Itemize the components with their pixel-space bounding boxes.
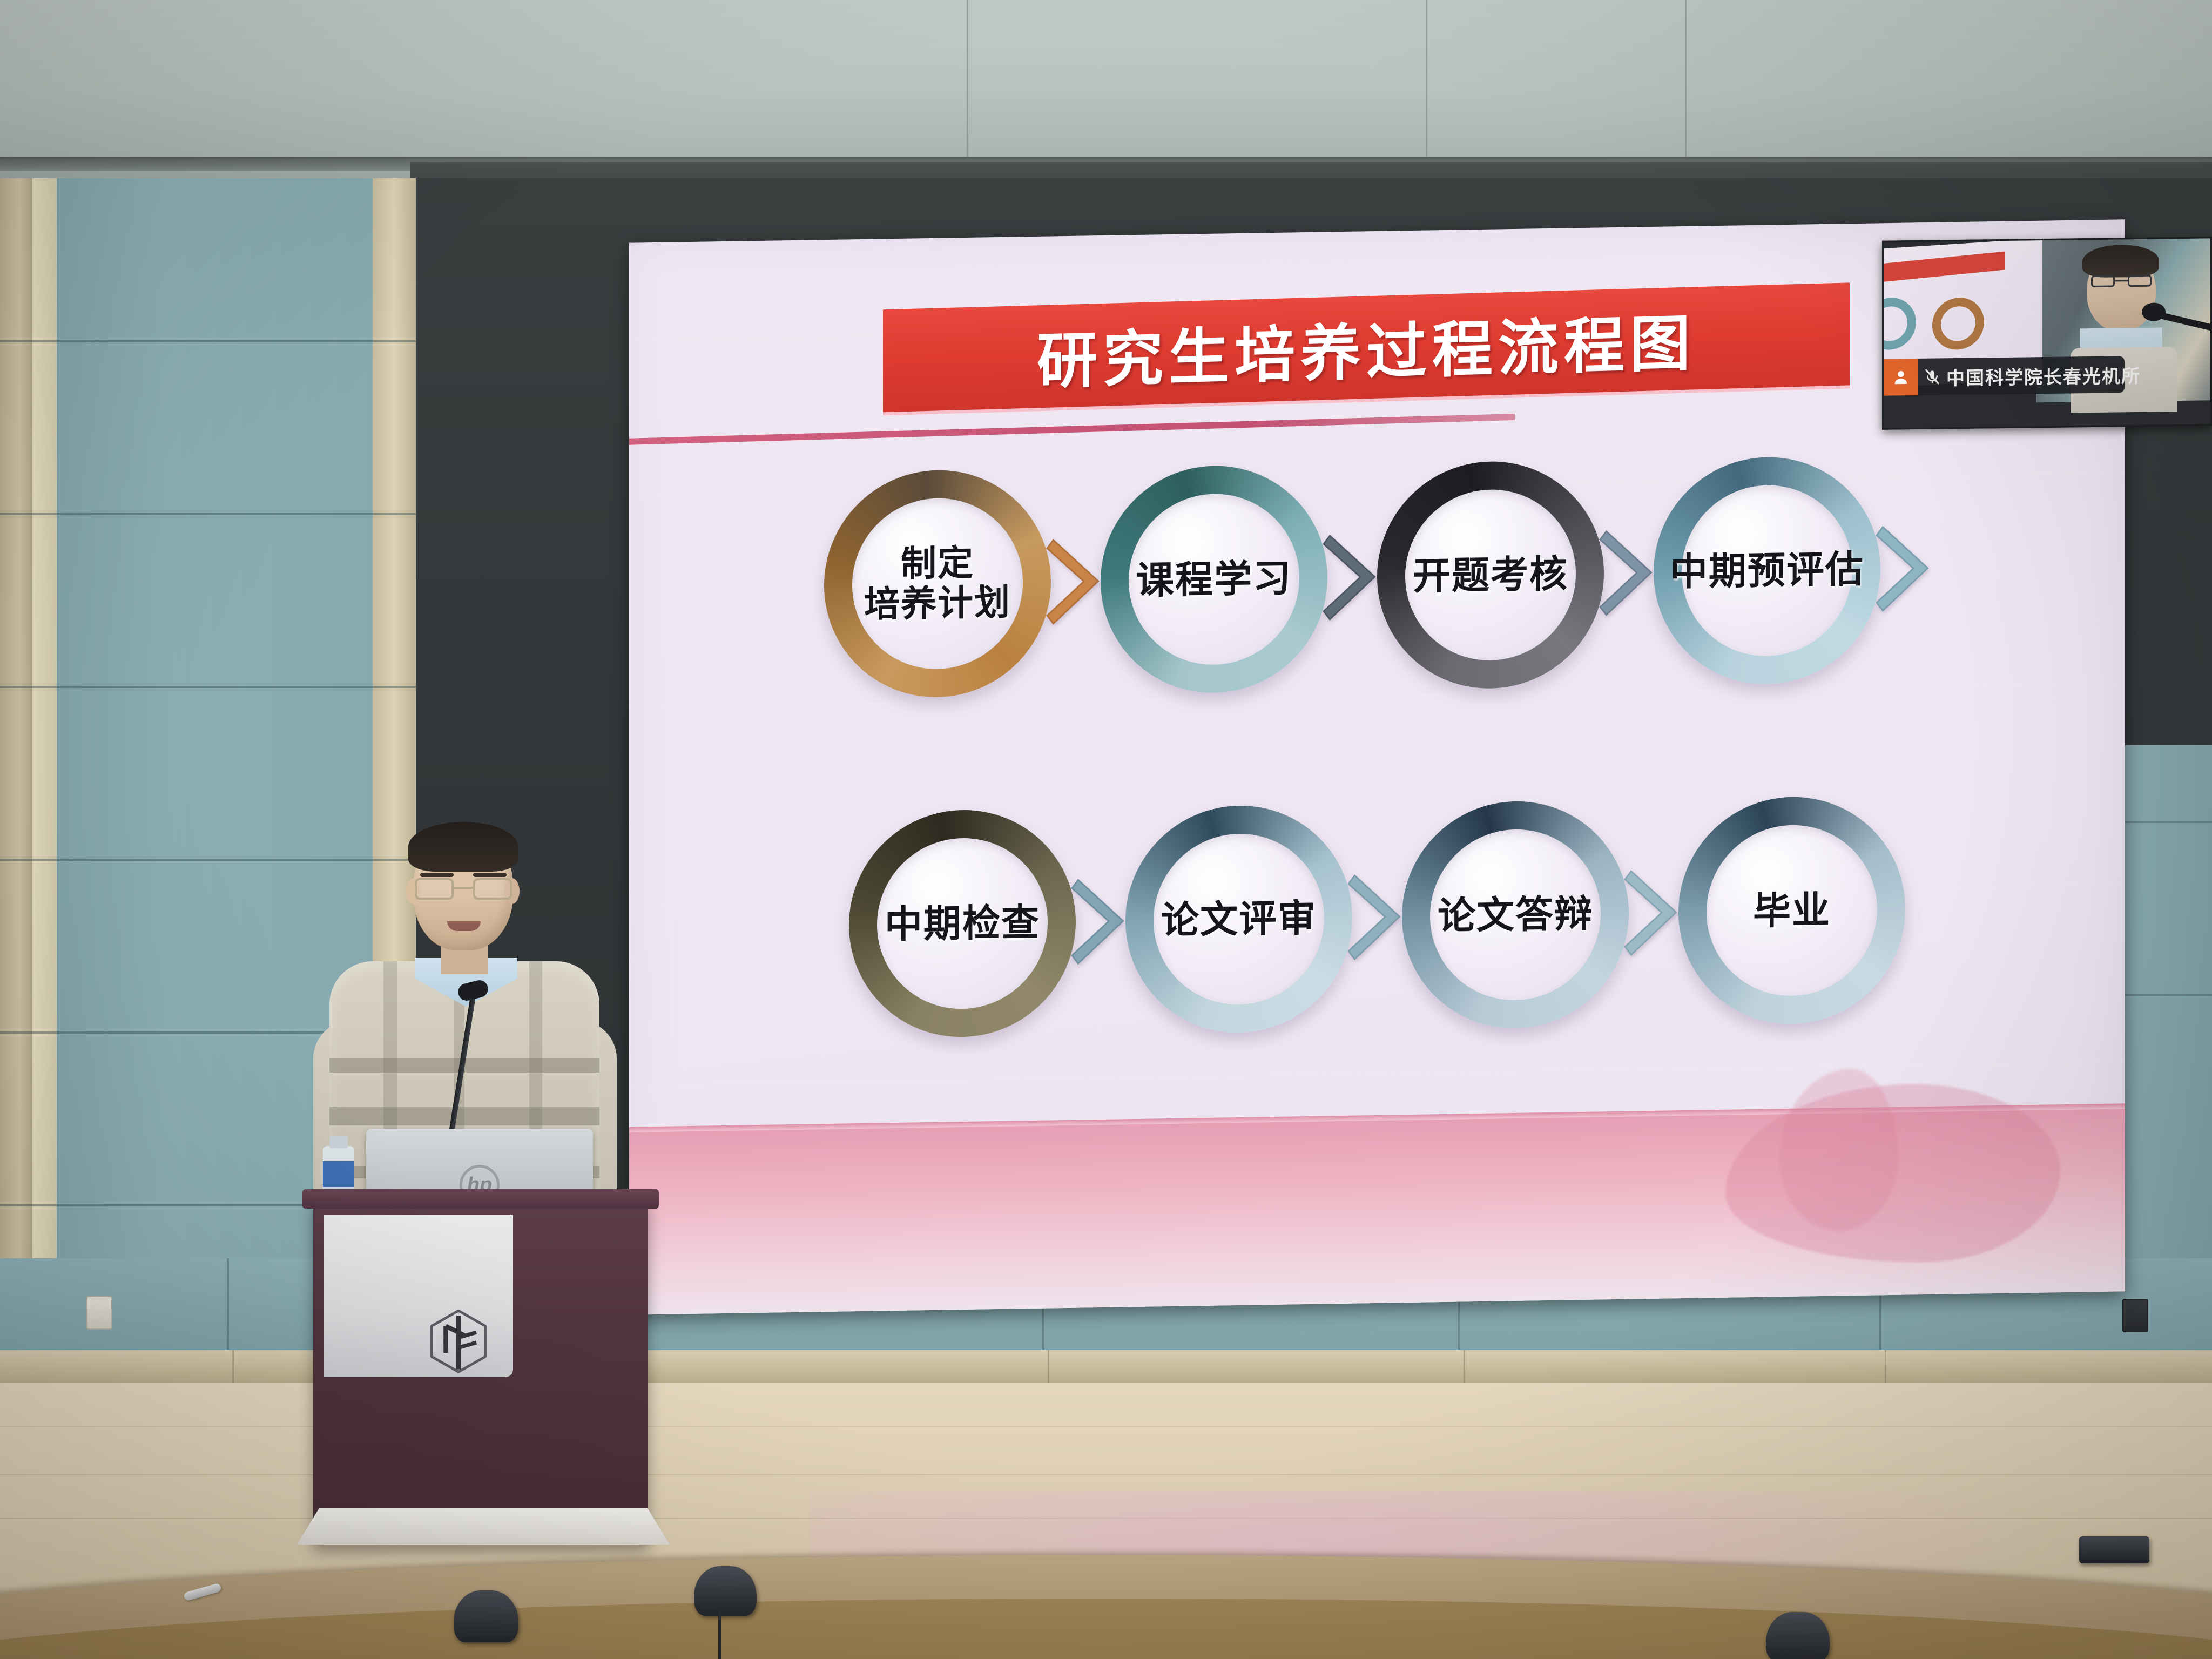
- stage-cable: [718, 1612, 721, 1659]
- pip-video-feed: [1884, 238, 2210, 428]
- flow-node-5[interactable]: 中期检查: [849, 808, 1076, 1039]
- flow-chevron-7: [1621, 866, 1686, 959]
- flow-node-1[interactable]: 制定 培养计划: [824, 468, 1051, 699]
- speaker-hair: [408, 822, 518, 872]
- flow-chevron-5: [1068, 875, 1133, 968]
- person-icon: [1884, 359, 1918, 396]
- flow-node-7[interactable]: 论文答辩: [1402, 800, 1629, 1030]
- flow-row-2: 中期检查 论文评审 论文答辩 毕业: [629, 792, 2125, 1042]
- stage-monitor-speaker: [694, 1566, 757, 1616]
- stage-monitor-speaker: [1766, 1612, 1830, 1659]
- flow-node-label: 制定 培养计划: [864, 543, 1011, 625]
- flow-node-2[interactable]: 课程学习: [1101, 464, 1327, 694]
- speaker-glasses: [415, 878, 512, 900]
- slide-title-banner: 研究生培养过程流程图: [883, 282, 1850, 412]
- flow-node-8[interactable]: 毕业: [1678, 795, 1905, 1026]
- slide-title-divider: [629, 414, 1515, 445]
- pip-glasses: [2091, 275, 2152, 287]
- stage-monitor-speaker: [454, 1590, 518, 1642]
- pip-participant-name: 中国科学院长春光机所: [1946, 361, 2150, 390]
- flow-node-label: 课程学习: [1136, 557, 1292, 602]
- slide-decorative-blob-small: [1779, 1068, 1898, 1232]
- lecture-hall-photo: 研究生培养过程流程图 制定 培养计划 课程学习 开题考核: [0, 0, 2212, 1659]
- flow-node-4[interactable]: 中期预评估: [1654, 455, 1880, 686]
- flow-chevron-6: [1345, 871, 1410, 963]
- podium-top-ledge: [302, 1189, 659, 1209]
- microphone-muted-icon[interactable]: [1918, 367, 1946, 386]
- flow-chevron-2: [1320, 531, 1385, 624]
- wall-panel-right: [2122, 1299, 2148, 1332]
- wall-outlet-left: [86, 1296, 112, 1330]
- flow-chevron-4: [1873, 522, 1938, 615]
- flow-node-label: 中期检查: [885, 901, 1040, 946]
- flow-node-label: 论文答辩: [1438, 893, 1593, 938]
- hexagon-institute-logo: [427, 1307, 490, 1376]
- podium-base: [297, 1508, 670, 1545]
- flow-chevron-3: [1596, 527, 1661, 619]
- flow-node-label: 中期预评估: [1670, 548, 1864, 594]
- pip-name-bar: 中国科学院长春光机所: [1884, 356, 2125, 395]
- video-conference-overlay[interactable]: 中国科学院长春光机所: [1882, 237, 2212, 429]
- ceiling-panels: [0, 0, 2212, 162]
- flow-node-label: 开题考核: [1413, 552, 1568, 597]
- podium-and-speaker: hp: [319, 826, 610, 1545]
- flow-node-3[interactable]: 开题考核: [1377, 460, 1604, 690]
- speaker-mouth: [447, 921, 481, 931]
- flow-node-label: 毕业: [1753, 889, 1831, 933]
- flow-chevron-1: [1043, 535, 1108, 628]
- flow-node-label: 论文评审: [1161, 897, 1317, 942]
- flow-row-1: 制定 培养计划 课程学习 开题考核 中期预评估: [629, 451, 2125, 702]
- stage-device: [2079, 1536, 2149, 1563]
- flow-node-6[interactable]: 论文评审: [1125, 804, 1352, 1035]
- slide-title: 研究生培养过程流程图: [1037, 294, 1696, 400]
